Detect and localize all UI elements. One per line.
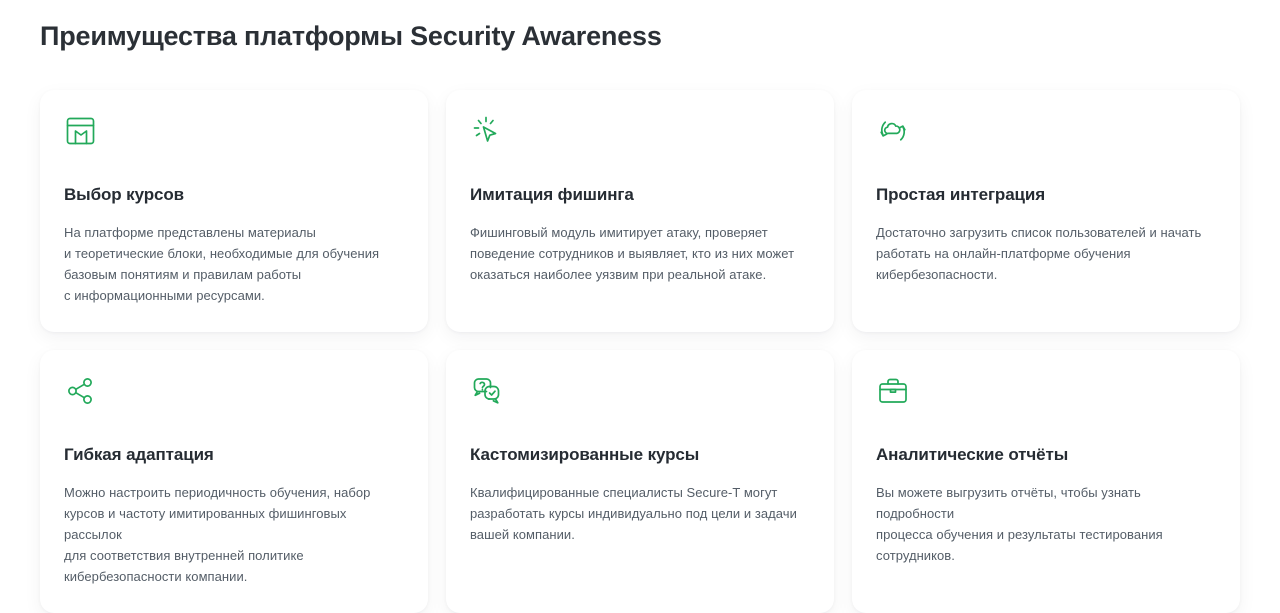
benefit-card-courses[interactable]: Выбор курсов На платформе представлены м… [40, 90, 428, 332]
benefits-card-grid: Выбор курсов На платформе представлены м… [40, 90, 1240, 613]
benefit-card-text: Квалифицированные специалисты Secure-T м… [470, 482, 810, 545]
benefit-card-integration[interactable]: Простая интеграция Достаточно загрузить … [852, 90, 1240, 332]
cloud-sync-icon [876, 114, 910, 148]
benefit-card-adaptation[interactable]: Гибкая адаптация Можно настроить периоди… [40, 350, 428, 613]
benefit-card-title: Простая интеграция [876, 184, 1216, 206]
cursor-click-icon [470, 114, 504, 148]
benefit-card-text: Можно настроить периодичность обучения, … [64, 482, 404, 587]
benefit-card-phishing[interactable]: Имитация фишинга Фишинговый модуль имити… [446, 90, 834, 332]
benefits-page: Преимущества платформы Security Awarenes… [0, 0, 1280, 603]
benefit-card-title: Аналитические отчёты [876, 444, 1216, 466]
briefcase-report-icon [876, 374, 910, 408]
share-network-icon [64, 374, 98, 408]
course-window-icon [64, 114, 98, 148]
benefit-card-text: Достаточно загрузить список пользователе… [876, 222, 1216, 285]
benefit-card-reports[interactable]: Аналитические отчёты Вы можете выгрузить… [852, 350, 1240, 613]
benefit-card-title: Кастомизированные курсы [470, 444, 810, 466]
benefit-card-title: Выбор курсов [64, 184, 404, 206]
question-check-chat-icon [470, 374, 504, 408]
benefit-card-text: На платформе представлены материалы и те… [64, 222, 404, 306]
page-title: Преимущества платформы Security Awarenes… [40, 0, 1240, 54]
benefit-card-text: Фишинговый модуль имитирует атаку, прове… [470, 222, 810, 285]
benefit-card-title: Имитация фишинга [470, 184, 810, 206]
benefit-card-custom-courses[interactable]: Кастомизированные курсы Квалифицированны… [446, 350, 834, 613]
benefit-card-title: Гибкая адаптация [64, 444, 404, 466]
benefit-card-text: Вы можете выгрузить отчёты, чтобы узнать… [876, 482, 1216, 566]
